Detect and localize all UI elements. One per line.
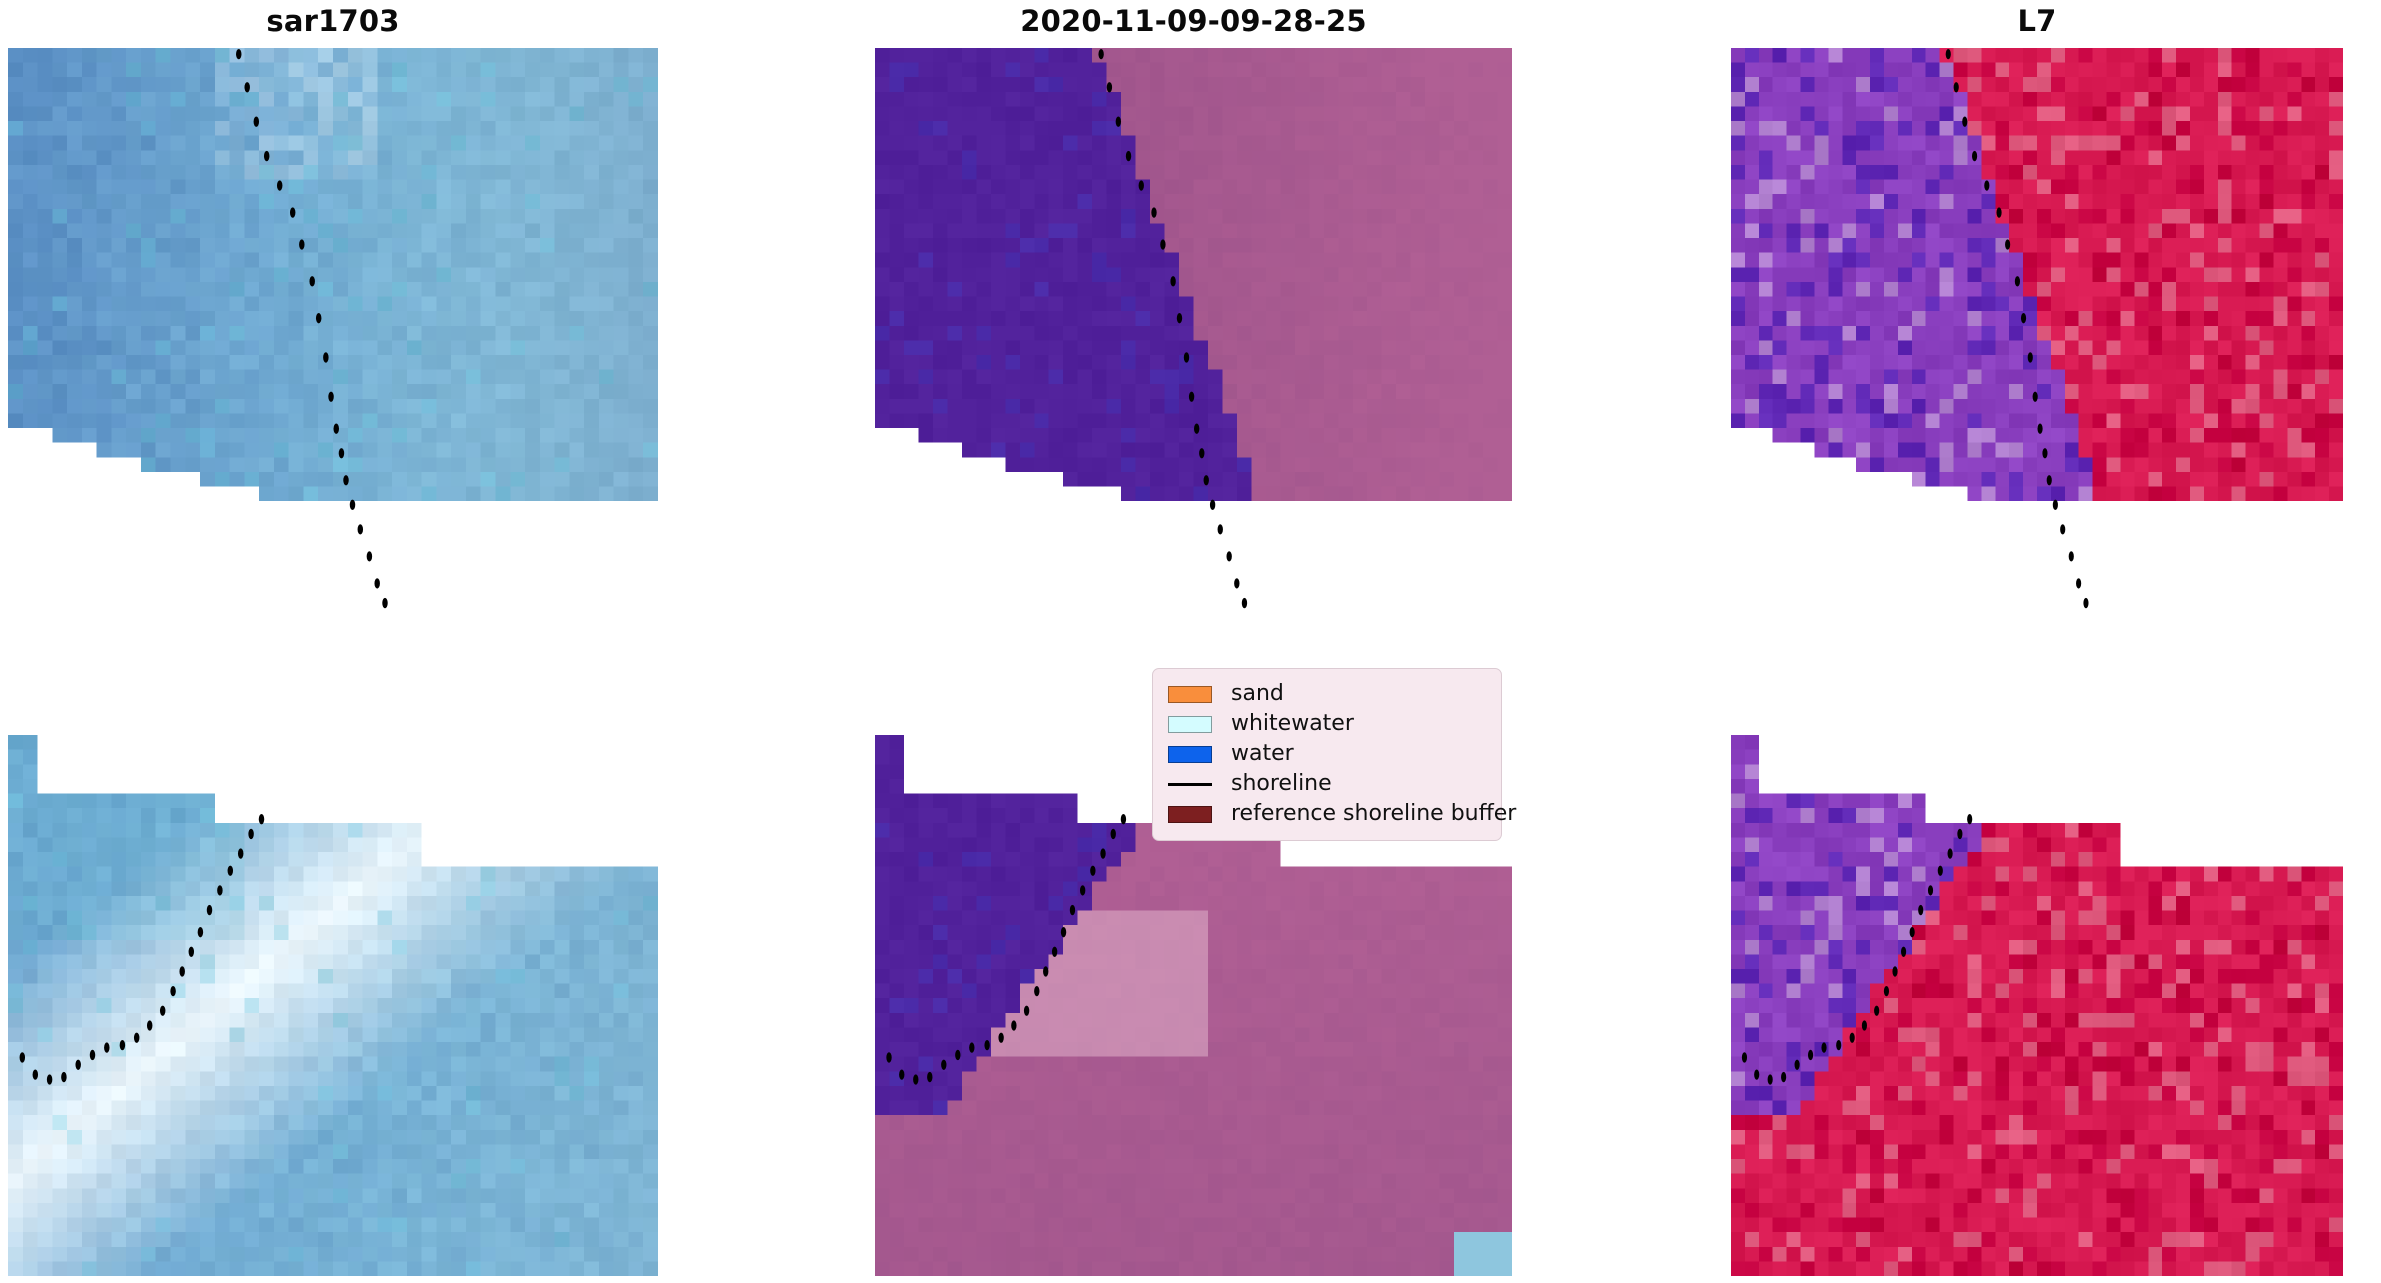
legend-label: shoreline (1231, 771, 1332, 797)
legend-swatch-sand (1167, 679, 1213, 709)
legend-swatch-whitewater (1167, 709, 1213, 739)
legend-item-sand: sand (1167, 679, 1487, 709)
legend-item-reference-shoreline-buffer: reference shoreline buffer (1167, 799, 1487, 829)
legend-item-shoreline: shoreline (1167, 769, 1487, 799)
panel-title-classification: 2020-11-09-09-28-25 (875, 4, 1512, 38)
legend-item-whitewater: whitewater (1167, 709, 1487, 739)
legend-key-glyph (1168, 686, 1212, 703)
figure-root: sar1703 2020-11-09-09-28-25 L7 sandwhite… (0, 0, 2381, 1283)
legend-label: water (1231, 741, 1294, 767)
legend-key-glyph (1168, 783, 1212, 786)
legend-swatch-reference-shoreline-buffer (1167, 799, 1213, 829)
legend-item-water: water (1167, 739, 1487, 769)
panel-image-sar1703 (8, 48, 658, 1276)
legend: sandwhitewaterwatershorelinereference sh… (1152, 668, 1502, 841)
legend-swatch-water (1167, 739, 1213, 769)
legend-key-glyph (1168, 746, 1212, 763)
panel-classification: 2020-11-09-09-28-25 (875, 0, 1512, 1283)
legend-label: reference shoreline buffer (1231, 801, 1516, 827)
panel-sar1703: sar1703 (8, 0, 658, 1283)
legend-label: sand (1231, 681, 1284, 707)
panel-title-sar1703: sar1703 (8, 4, 658, 38)
panel-title-l7: L7 (1731, 4, 2343, 38)
legend-key-glyph (1168, 806, 1212, 823)
panel-image-l7 (1731, 48, 2343, 1276)
legend-label: whitewater (1231, 711, 1354, 737)
panel-l7: L7 (1731, 0, 2343, 1283)
panel-image-classification (875, 48, 1512, 1276)
legend-key-glyph (1168, 716, 1212, 733)
legend-swatch-shoreline (1167, 769, 1213, 799)
